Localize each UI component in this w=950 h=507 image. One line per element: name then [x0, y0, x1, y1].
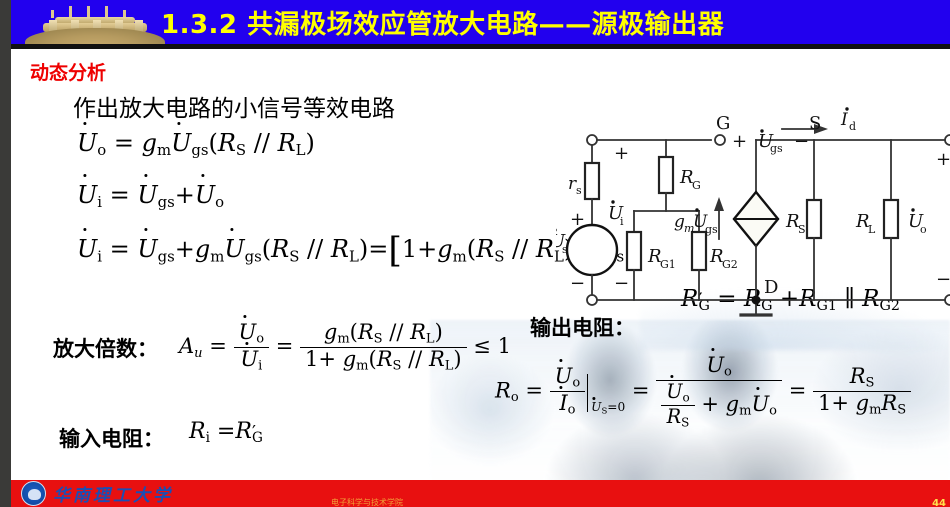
label-id-dot: [845, 107, 848, 110]
label-plus-ui: +: [614, 143, 629, 164]
label-uo-sub: o: [920, 223, 927, 236]
gain-label: 放大倍数：: [53, 333, 158, 363]
terminal-out-top: [945, 135, 950, 145]
label-ugs-sub: gs: [770, 142, 783, 155]
title-underline: [11, 44, 950, 49]
label-rg1-sub: G1: [660, 258, 676, 271]
scut-seal-logo-icon: [21, 481, 46, 506]
equation-gain: Au = UoUi = gm(RS // RL)1+ gm(RS // RL) …: [179, 321, 511, 374]
equation-ui: Ui = Ugs+Uo: [77, 181, 224, 211]
label-minus-ui: −: [614, 273, 629, 294]
label-node-s: S: [809, 113, 821, 134]
label-rg2-sub: G2: [722, 258, 738, 271]
label-gm-ugs-sub: gs: [705, 223, 718, 236]
label-minus-out: −: [936, 269, 950, 290]
equation-uo: Uo = gmUgs(RS // RL): [77, 129, 315, 159]
slide-root: 1.3.2 共漏极场效应管放大电路——源极输出器 动态分析 作出放大电路的小信号…: [0, 0, 950, 507]
section-heading: 动态分析: [30, 58, 106, 85]
slide-content: 动态分析 作出放大电路的小信号等效电路 Uo = gmUgs(RS // RL)…: [11, 49, 950, 480]
label-minus-gs: −: [794, 131, 809, 152]
slide-footer: 华南理工大学 电子科学与技术学院 44: [11, 480, 950, 507]
label-node-d: D: [764, 277, 778, 298]
gm-arrowhead: [714, 197, 724, 211]
label-id: I: [840, 110, 848, 130]
footer-note: 电子科学与技术学院: [331, 497, 403, 507]
label-uo-dot: [911, 208, 914, 211]
terminal-in-top: [587, 135, 597, 145]
label-ui-sub: i: [620, 215, 624, 228]
label-node-g: G: [716, 113, 730, 134]
terminal-in-bottom: [587, 295, 597, 305]
label-rg-sub: G: [692, 179, 701, 192]
rin-label: 输入电阻：: [59, 423, 164, 453]
label-rsload-sub: S: [798, 223, 806, 236]
label-id-sub: d: [849, 120, 856, 133]
label-gm-ugs-dot: [695, 208, 698, 211]
circuit-diagram: G + U gs − S I d r s U s + −: [556, 107, 950, 352]
label-plus-src: +: [570, 209, 585, 230]
label-ugs-dot: [760, 129, 763, 132]
label-minus-src: −: [570, 273, 585, 294]
label-rs-src-sub: s: [576, 184, 582, 197]
label-rl-sub: L: [868, 223, 876, 236]
slide-title-bar: 1.3.2 共漏极场效应管放大电路——源极输出器: [11, 0, 950, 49]
terminal-gate: [715, 135, 725, 145]
decorative-gate-icon: [25, 6, 165, 48]
equation-rin: Ri =R′G: [189, 419, 263, 446]
label-ui-dot: [611, 200, 614, 203]
page-title: 1.3.2 共漏极场效应管放大电路——源极输出器: [161, 4, 724, 41]
left-edge-rail: [0, 0, 11, 507]
footer-university-name: 华南理工大学: [53, 481, 173, 506]
equation-ui-expanded: Ui = Ugs+gmUgs(RS // RL)=[1+gm(RS // RL)…: [77, 231, 624, 271]
label-plus-out: +: [936, 149, 950, 170]
footer-page-number: 44: [932, 498, 946, 507]
label-us-sub: s: [562, 243, 568, 256]
subheading: 作出放大电路的小信号等效电路: [73, 89, 395, 123]
label-plus-gs: +: [732, 131, 747, 152]
terminal-out-bottom: [945, 295, 950, 305]
equation-rout: Ro = UoIoUS=0 = UoUoRS + gmUo = RS1+ gmR…: [495, 354, 911, 430]
node-d-dot: [752, 296, 761, 305]
